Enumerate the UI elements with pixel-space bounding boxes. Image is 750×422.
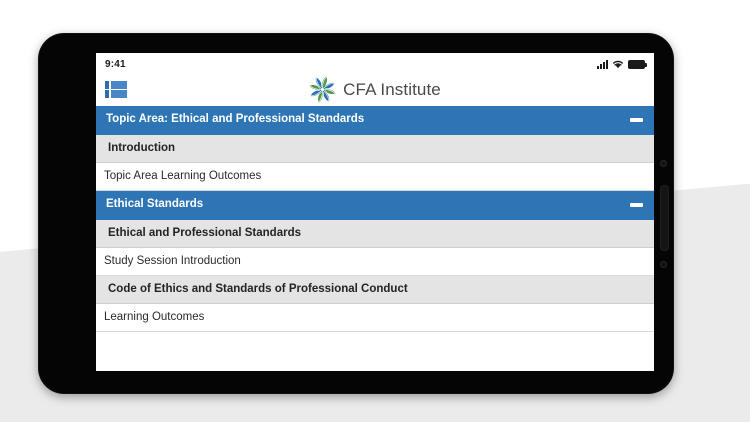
toc-item-row[interactable]: Learning Outcomes — [96, 304, 654, 332]
minus-icon[interactable] — [630, 203, 643, 207]
brand-title: CFA Institute — [343, 80, 441, 100]
toc-group-row[interactable]: Ethical and Professional Standards — [96, 220, 654, 248]
toc-section-header[interactable]: Ethical Standards — [96, 191, 654, 220]
toc-row-label: Introduction — [108, 142, 175, 156]
list-menu-icon[interactable] — [105, 81, 127, 99]
status-bar: 9:41 — [96, 53, 654, 73]
toc-row-label: Code of Ethics and Standards of Professi… — [108, 283, 408, 297]
minus-icon[interactable] — [630, 118, 643, 122]
signal-bars-icon — [597, 60, 608, 69]
toc-row-label: Learning Outcomes — [104, 311, 204, 325]
toc-section-header[interactable]: Topic Area: Ethical and Professional Sta… — [96, 106, 654, 135]
table-of-contents-list: Topic Area: Ethical and Professional Sta… — [96, 106, 654, 332]
brand-lockup: CFA Institute — [96, 76, 654, 103]
toc-group-row[interactable]: Introduction — [96, 135, 654, 163]
device-screen: 9:41 — [96, 53, 654, 371]
tablet-device-frame: 9:41 — [38, 33, 674, 394]
side-button[interactable] — [660, 185, 669, 251]
toc-row-label: Topic Area Learning Outcomes — [104, 170, 261, 184]
toc-row-label: Study Session Introduction — [104, 255, 241, 269]
toc-row-label: Ethical and Professional Standards — [108, 227, 301, 241]
toc-item-row[interactable]: Topic Area Learning Outcomes — [96, 163, 654, 191]
cfa-institute-pinwheel-logo — [309, 76, 336, 103]
wifi-icon — [612, 59, 624, 69]
toc-row-label: Topic Area: Ethical and Professional Sta… — [106, 113, 364, 127]
toc-item-row[interactable]: Study Session Introduction — [96, 248, 654, 276]
status-icons — [597, 59, 645, 69]
toc-group-row[interactable]: Code of Ethics and Standards of Professi… — [96, 276, 654, 304]
battery-icon — [628, 60, 645, 69]
toc-row-label: Ethical Standards — [106, 198, 203, 212]
front-camera-dot — [660, 160, 667, 167]
status-time: 9:41 — [105, 59, 126, 70]
app-bar: CFA Institute — [96, 73, 654, 106]
sensor-dot — [660, 261, 667, 268]
